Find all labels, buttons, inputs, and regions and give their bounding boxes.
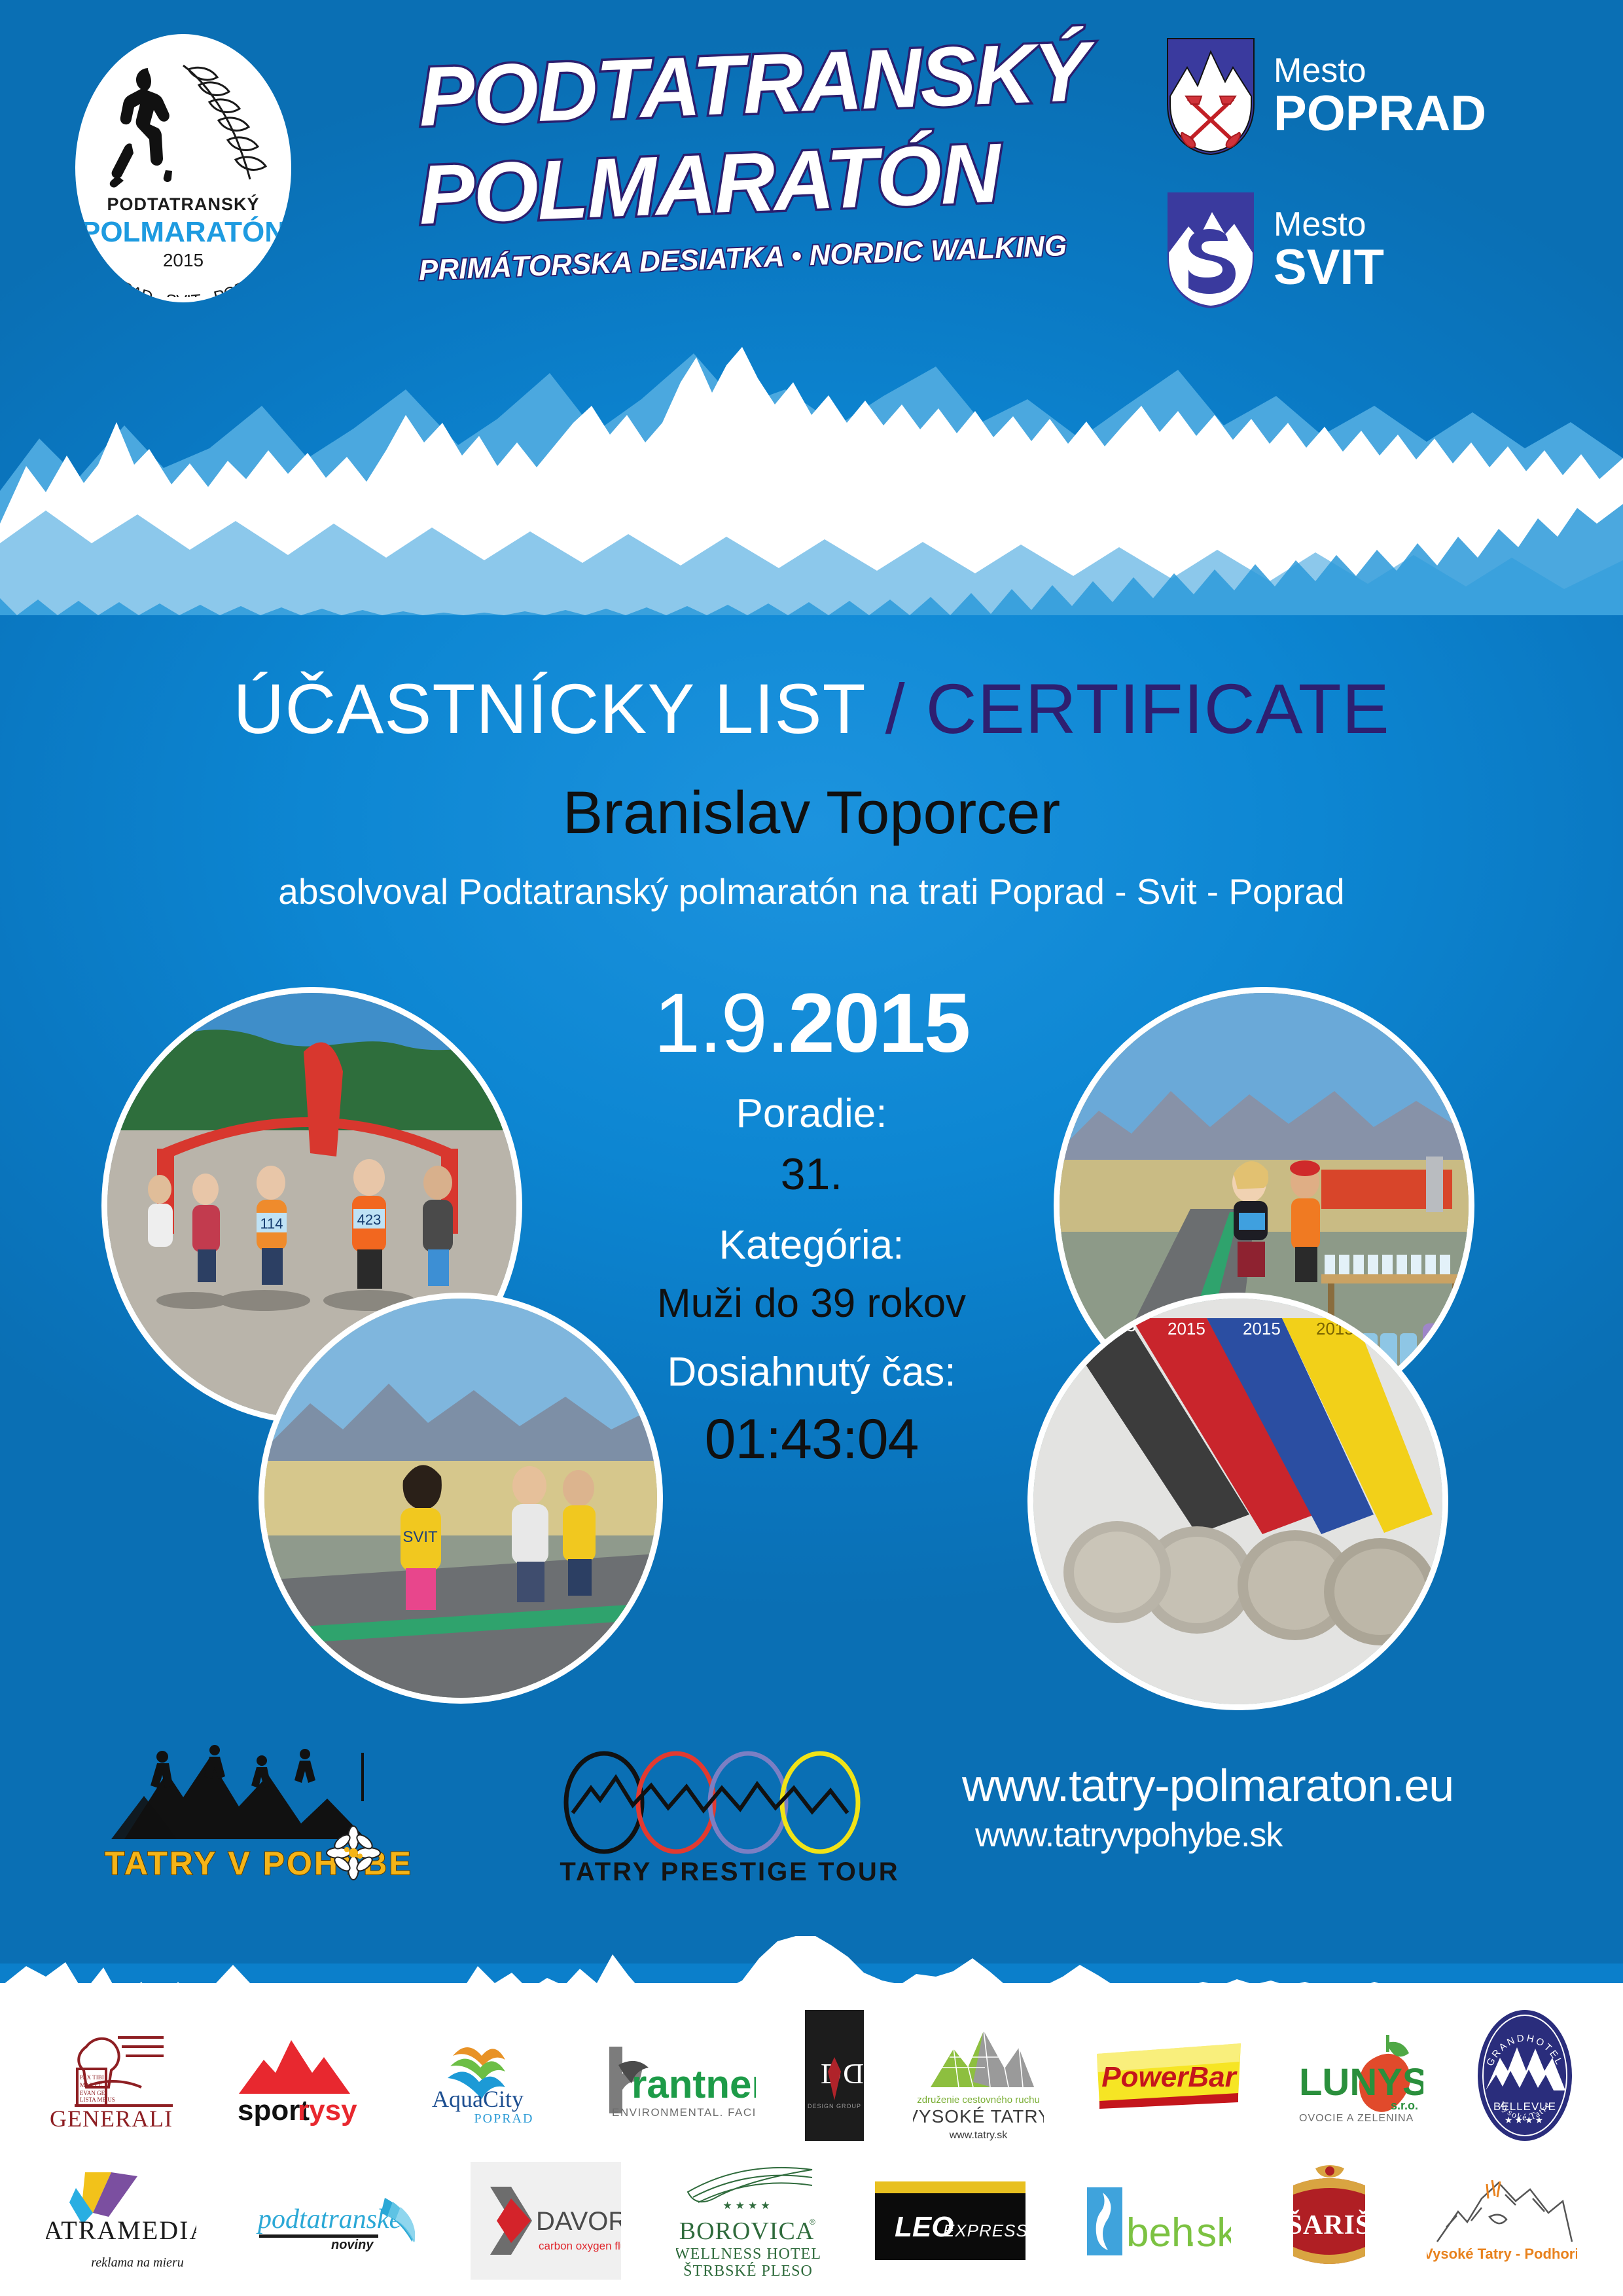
tatry-prestige-tour-logo: TATRY PRESTIGE TOUR xyxy=(553,1745,893,1895)
svg-text:DESIGN GROUP: DESIGN GROUP xyxy=(808,2103,861,2109)
sponsor-sportrysy: sport rysy xyxy=(226,2023,363,2128)
svg-text:POPRAD: POPRAD xyxy=(474,2111,534,2126)
svg-text:SVIT: SVIT xyxy=(402,1528,438,1546)
svg-text:VYSOKÉ TATRY: VYSOKÉ TATRY xyxy=(913,2106,1044,2126)
category-value: Muži do 39 rokov xyxy=(484,1280,1139,1327)
event-badge-logo: PODTATRANSKÝ POLMARATÓN 2015 POPRAD - SV… xyxy=(75,34,291,302)
svg-text:®: ® xyxy=(810,2217,815,2227)
sponsor-podtatranske-noviny: podtatranské noviny xyxy=(251,2178,415,2263)
sponsor-generali: PAX TIBIMAR CEEVAN GELISTA ME US GENERAL… xyxy=(46,2023,177,2128)
svg-text:ŠARIŠ: ŠARIŠ xyxy=(1287,2209,1371,2240)
sponsor-vysoke-tatry: združenie cestovného ruchu VYSOKÉ TATRY … xyxy=(913,2010,1044,2141)
heading-english: / CERTIFICATE xyxy=(885,669,1390,748)
svg-text:rantner: rantner xyxy=(632,2062,756,2106)
sponsor-brantner: rantner ENVIRONMENTAL. FACILITY SERVICES xyxy=(592,2030,756,2121)
sponsor-row-1: PAX TIBIMAR CEEVAN GELISTA ME US GENERAL… xyxy=(0,2000,1623,2151)
svg-text:LUNYS: LUNYS xyxy=(1299,2061,1423,2104)
heading-slovak: ÚČASTNÍCKY LIST xyxy=(233,669,885,748)
sponsor-lunys: LUNYS s.r.o. OVOCIE A ZELENINA xyxy=(1293,2023,1423,2128)
svg-text:★★★★: ★★★★ xyxy=(722,2200,773,2212)
city-svit-text: Mesto SVIT xyxy=(1274,207,1384,294)
rank-label: Poradie: xyxy=(484,1090,1139,1137)
svg-text:carbon oxygen fluorine: carbon oxygen fluorine xyxy=(539,2240,621,2252)
certificate-description: absolvoval Podtatranský polmaratón na tr… xyxy=(0,870,1623,912)
svg-text:LISTA ME US: LISTA ME US xyxy=(80,2096,115,2103)
svg-text:EVAN GE: EVAN GE xyxy=(80,2090,105,2096)
svg-text:www.tatry.sk: www.tatry.sk xyxy=(949,2130,1008,2141)
sponsors-band: PAX TIBIMAR CEEVAN GELISTA ME US GENERAL… xyxy=(0,1983,1623,2296)
badge-route: POPRAD - SVIT - POPRAD xyxy=(75,264,291,297)
laurel-icon xyxy=(177,60,272,181)
header: PODTATRANSKÝ POLMARATÓN 2015 POPRAD - SV… xyxy=(0,0,1623,367)
svg-text:GENERALI: GENERALI xyxy=(50,2106,173,2128)
date-prefix: 1.9. xyxy=(654,977,789,1070)
city-svit-name: SVIT xyxy=(1274,242,1384,294)
sponsor-borovica: ★★★★ BOROVICA ® WELLNESS HOTEL ŠTRBSKÉ P… xyxy=(676,2162,820,2280)
svg-text:beh: beh xyxy=(1126,2210,1194,2255)
sponsor-behsk: beh .sk xyxy=(1080,2178,1231,2263)
svg-text:TATRAMEDIA: TATRAMEDIA xyxy=(46,2215,196,2245)
svg-text:s.r.o.: s.r.o. xyxy=(1391,2099,1418,2112)
tatry-v-pohybe-logo: TATRY V POHYBE xyxy=(105,1741,471,1892)
badge-line2: POLMARATÓN xyxy=(75,216,291,249)
svg-text:podtatranské: podtatranské xyxy=(256,2204,403,2234)
tatry-prestige-tour-label: TATRY PRESTIGE TOUR xyxy=(560,1857,900,1887)
athlete-name: Branislav Toporcer xyxy=(0,779,1623,848)
city-svit-prefix: Mesto xyxy=(1274,207,1384,242)
sponsor-aquacity: AquaCity POPRAD xyxy=(412,2023,543,2128)
svg-text:OVOCIE A ZELENINA: OVOCIE A ZELENINA xyxy=(1299,2113,1414,2124)
time-label: Dosiahnutý čas: xyxy=(484,1349,1139,1395)
sponsor-powerbar: PowerBar xyxy=(1093,2039,1243,2111)
svg-text:423: 423 xyxy=(357,1211,382,1228)
svg-text:noviny: noviny xyxy=(331,2238,374,2252)
title-line2: POLMARATÓN xyxy=(418,126,1153,238)
title-line1: PODTATRANSKÝ xyxy=(418,27,1153,139)
certificate-page: PODTATRANSKÝ POLMARATÓN 2015 POPRAD - SV… xyxy=(0,0,1623,2296)
svg-text:.sk: .sk xyxy=(1185,2210,1231,2255)
sponsor-row-2: TATRAMEDIA reklama na mieru podtatranské… xyxy=(0,2159,1623,2283)
sponsor-tatramedia: TATRAMEDIA reklama na mieru xyxy=(46,2162,196,2280)
svg-text:ENVIRONMENTAL. FACILITY SERVIC: ENVIRONMENTAL. FACILITY SERVICES xyxy=(612,2106,756,2119)
url-main[interactable]: www.tatry-polmaraton.eu xyxy=(962,1759,1584,1812)
sponsor-leoexpress: LEO EXPRESS xyxy=(875,2181,1026,2260)
svg-text:D: D xyxy=(843,2058,864,2090)
rank-value: 31. xyxy=(484,1149,1139,1200)
city-poprad-text: Mesto POPRAD xyxy=(1274,54,1486,140)
svg-text:114: 114 xyxy=(260,1215,283,1232)
svg-text:ŠTRBSKÉ PLESO: ŠTRBSKÉ PLESO xyxy=(683,2262,813,2280)
svg-text:POPRAD - SVIT - POPRAD: POPRAD - SVIT - POPRAD xyxy=(88,264,277,297)
event-title-block: PODTATRANSKÝ POLMARATÓN PRIMÁTORSKA DESI… xyxy=(419,56,1152,317)
url-secondary[interactable]: www.tatryvpohybe.sk xyxy=(975,1816,1584,1855)
sponsor-dd: D D DESIGN GROUP xyxy=(805,2010,864,2141)
city-poprad-name: POPRAD xyxy=(1274,88,1486,140)
poprad-crest-icon xyxy=(1165,36,1257,157)
mountain-silhouette-band xyxy=(0,327,1623,615)
sponsor-davorin: DAVORIN carbon oxygen fluorine xyxy=(471,2162,621,2280)
sponsor-vysoke-tatry-podhorie: Vysoké Tatry - Podhorie xyxy=(1427,2175,1577,2267)
edelweiss-icon xyxy=(321,1825,386,1884)
svg-text:EXPRESS: EXPRESS xyxy=(943,2221,1026,2240)
svg-text:2015: 2015 xyxy=(1168,1319,1205,1338)
svg-text:Vysoké Tatry - Podhorie: Vysoké Tatry - Podhorie xyxy=(1427,2246,1577,2262)
svit-crest-icon xyxy=(1165,190,1257,311)
urls-block: www.tatry-polmaraton.eu www.tatryvpohybe… xyxy=(962,1759,1584,1855)
time-value: 01:43:04 xyxy=(484,1407,1139,1472)
svg-text:PAX TIBI: PAX TIBI xyxy=(80,2074,104,2081)
results-panel: 1.9.2015 Poradie: 31. Kategória: Muži do… xyxy=(484,982,1139,1472)
svg-text:MAR CE: MAR CE xyxy=(80,2082,103,2089)
svg-text:AquaCity: AquaCity xyxy=(432,2086,524,2112)
svg-text:DAVORIN: DAVORIN xyxy=(536,2207,621,2236)
sponsor-bellevue: GRANDHOTEL BELLEVUE ★★★★ Vysoké Tatry xyxy=(1472,2007,1577,2144)
certificate-heading: ÚČASTNÍCKY LIST / CERTIFICATE xyxy=(0,668,1623,749)
svg-text:reklama na mieru: reklama na mieru xyxy=(91,2255,183,2270)
city-svit-block: Mesto SVIT xyxy=(1165,190,1384,311)
city-poprad-block: Mesto POPRAD xyxy=(1165,36,1486,157)
sponsor-sportrysy-part2: rysy xyxy=(298,2094,357,2126)
badge-line1: PODTATRANSKÝ xyxy=(75,194,291,215)
svg-text:2015: 2015 xyxy=(1243,1319,1281,1338)
svg-text:WELLNESS HOTEL: WELLNESS HOTEL xyxy=(676,2246,820,2263)
category-label: Kategória: xyxy=(484,1222,1139,1268)
date-year: 2015 xyxy=(788,977,969,1070)
event-date: 1.9.2015 xyxy=(484,982,1139,1066)
svg-text:PowerBar: PowerBar xyxy=(1101,2061,1238,2093)
city-poprad-prefix: Mesto xyxy=(1274,54,1486,88)
svg-text:združenie cestovného ruchu: združenie cestovného ruchu xyxy=(917,2094,1040,2106)
sponsor-saris: ŠARIŠ xyxy=(1287,2162,1372,2280)
svg-text:BOROVICA: BOROVICA xyxy=(679,2217,814,2245)
